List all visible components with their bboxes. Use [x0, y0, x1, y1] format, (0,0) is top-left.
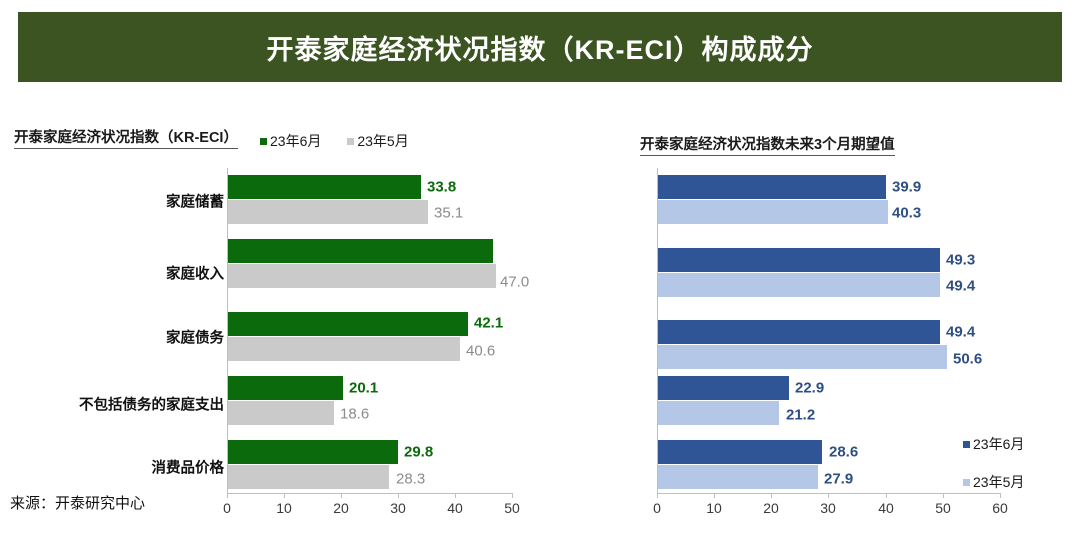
bar-value-label: 21.2	[786, 407, 815, 424]
bar-value-label: 22.9	[795, 380, 824, 397]
bar-value-label: 49.4	[946, 278, 975, 295]
bar-row[interactable]	[658, 320, 940, 344]
bar-row[interactable]	[658, 465, 818, 489]
bar-value-label: 27.9	[824, 471, 853, 488]
right-xtick-label: 10	[706, 500, 722, 516]
bar-value-label: 50.6	[953, 351, 982, 368]
bar-row[interactable]	[658, 401, 779, 425]
right-chart-panel: 开泰家庭经济状况指数未来3个月期望值 23年6月 23年5月 0 10 20 3…	[0, 0, 1080, 536]
bar-row[interactable]	[658, 376, 789, 400]
bar-row[interactable]	[658, 175, 886, 199]
right-xtick-label: 60	[992, 500, 1008, 516]
bar-row[interactable]	[658, 345, 947, 369]
bar-value-label: 49.4	[946, 324, 975, 341]
bar-value-label: 39.9	[892, 179, 921, 196]
right-xtick-label: 40	[878, 500, 894, 516]
right-plot-area: 0 10 20 30 40 50 60 39.9 40.3 49.3 49.4 …	[0, 0, 1080, 536]
right-xtick-label: 0	[653, 500, 661, 516]
bar-row[interactable]	[658, 440, 822, 464]
right-xtick-mark	[943, 493, 944, 498]
right-xtick-mark	[771, 493, 772, 498]
bar-row[interactable]	[658, 248, 940, 272]
right-xtick-mark	[886, 493, 887, 498]
bar-row[interactable]	[658, 200, 888, 224]
bar-value-label: 40.3	[892, 205, 921, 222]
right-xtick-label: 20	[763, 500, 779, 516]
bar-value-label: 49.3	[946, 252, 975, 269]
right-xtick-mark	[1000, 493, 1001, 498]
right-xtick-mark	[657, 493, 658, 498]
right-xtick-mark	[714, 493, 715, 498]
right-xtick-label: 30	[820, 500, 836, 516]
right-xtick-mark	[828, 493, 829, 498]
right-xtick-label: 50	[935, 500, 951, 516]
bar-row[interactable]	[658, 273, 940, 297]
source-note: 来源：开泰研究中心	[10, 492, 145, 513]
bar-value-label: 28.6	[829, 444, 858, 461]
